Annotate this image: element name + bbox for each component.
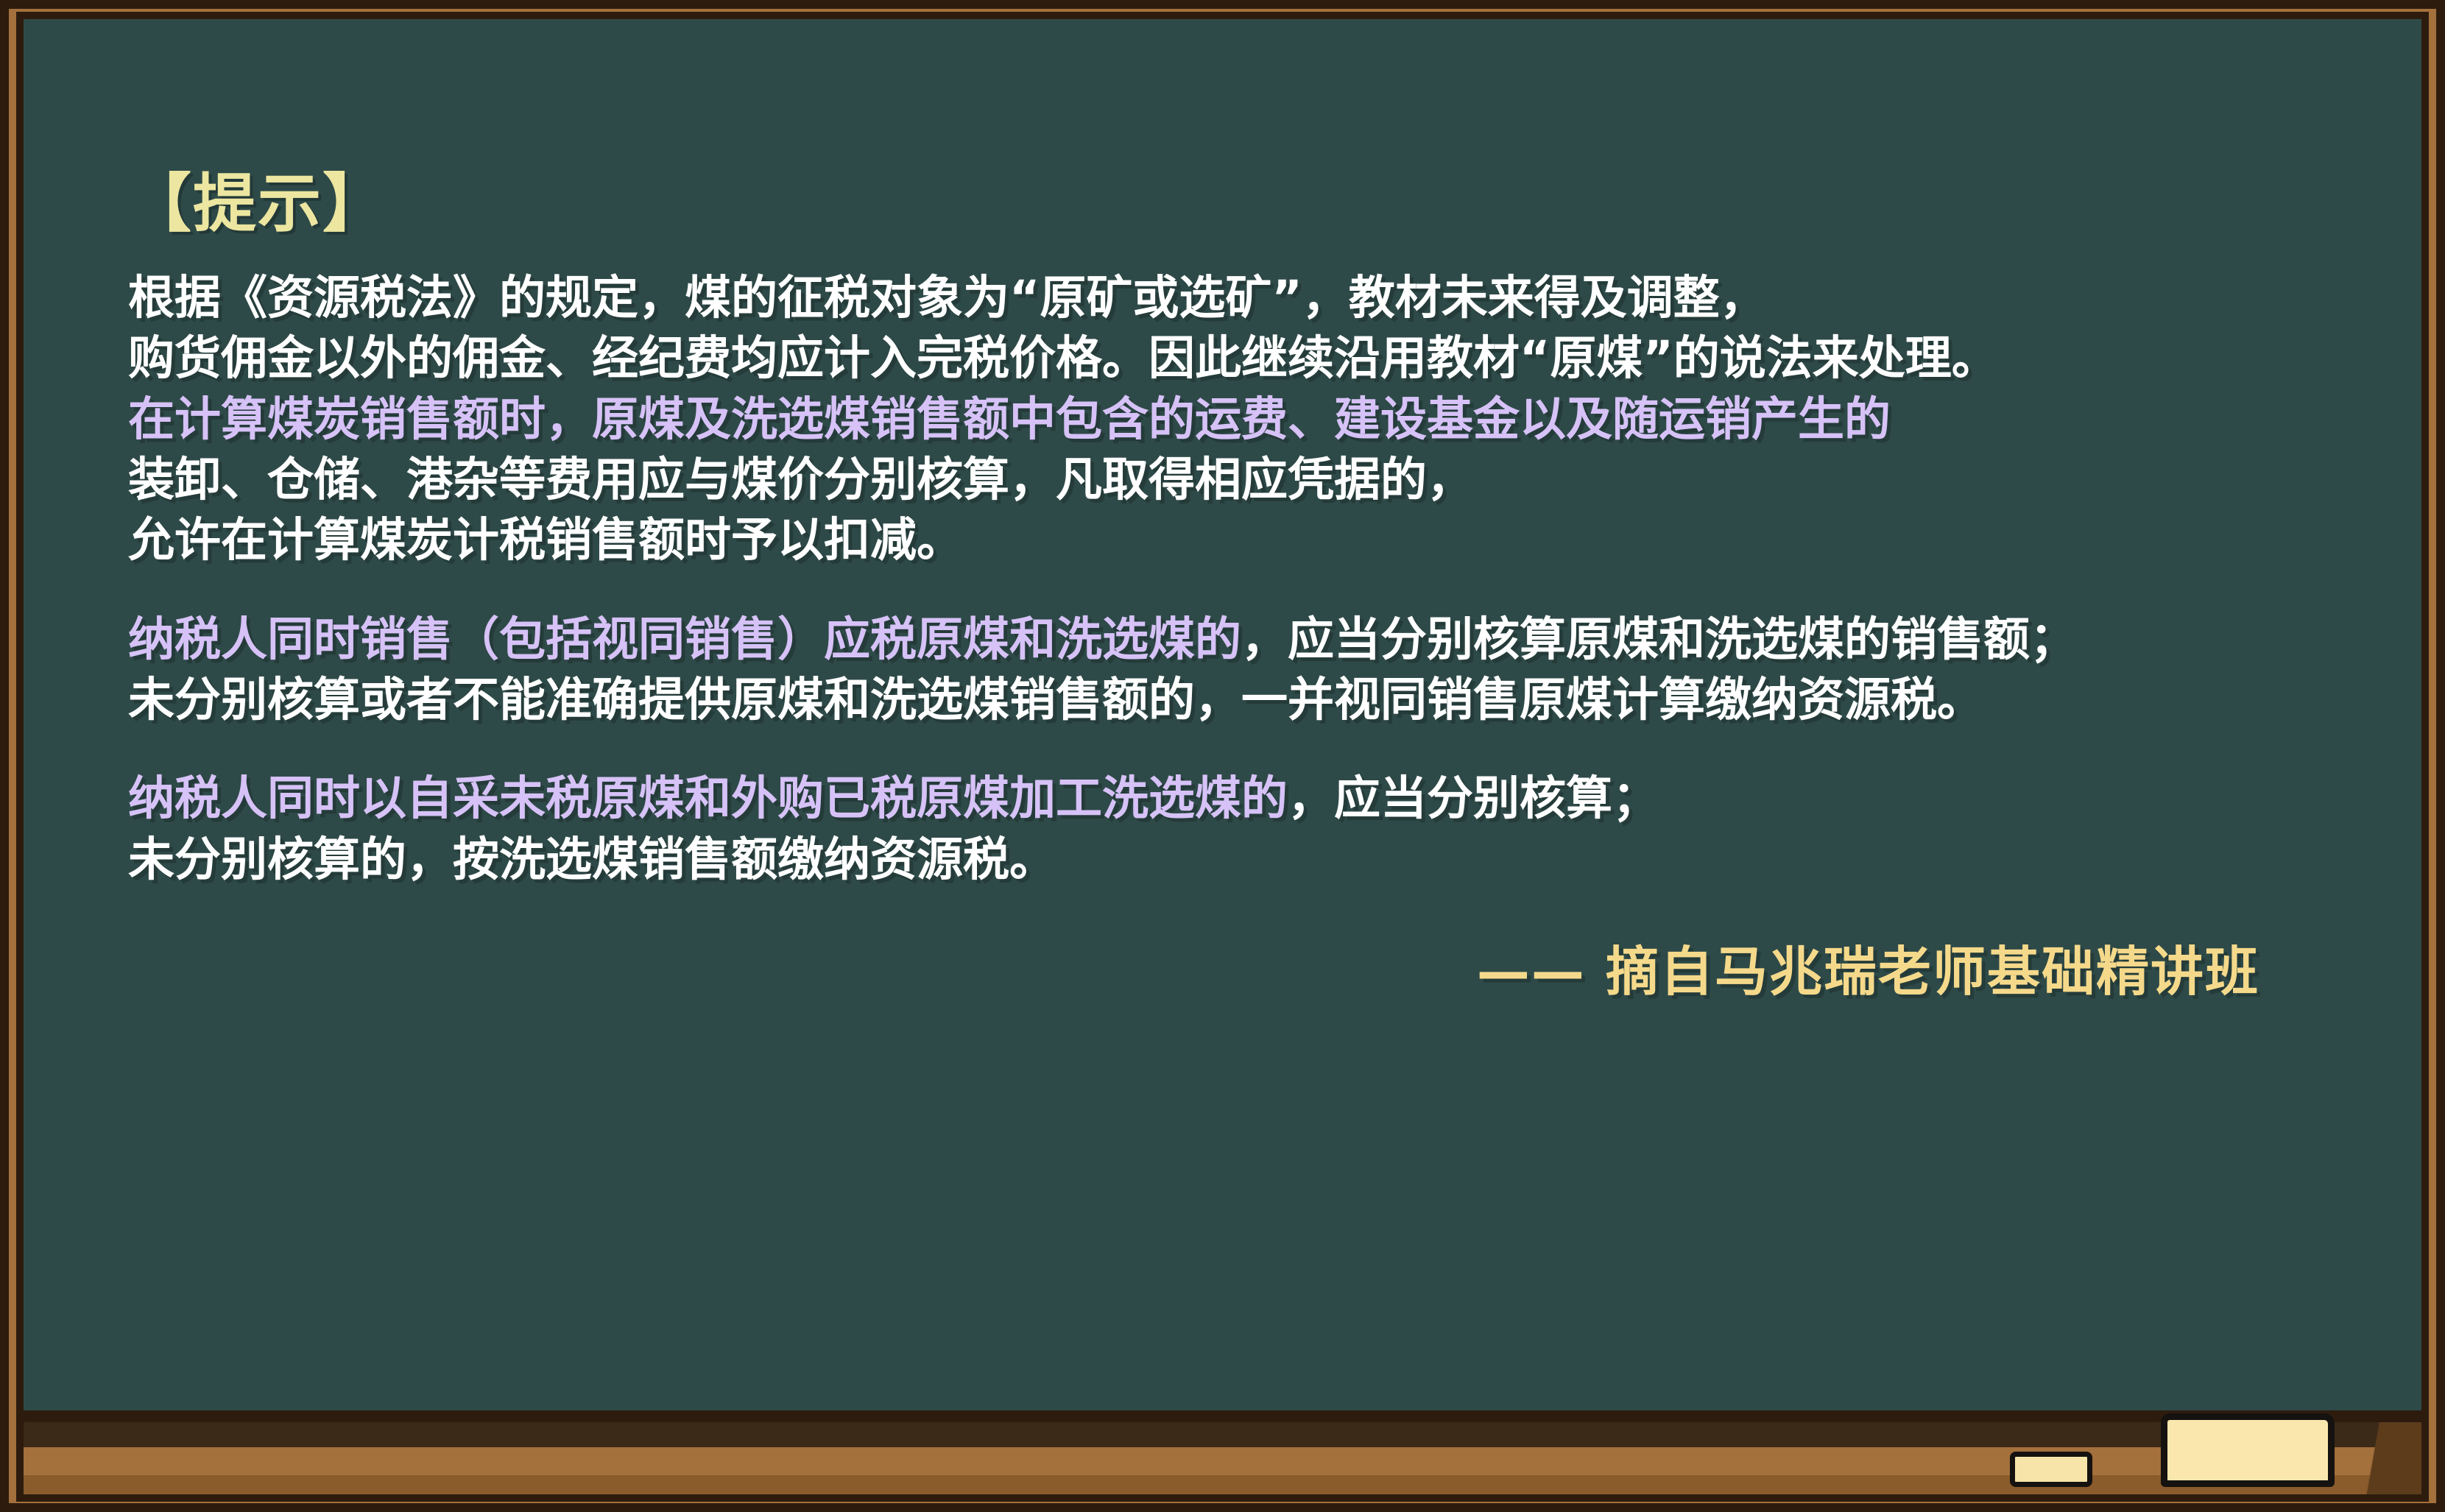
highlighted-text-run: 纳税人同时以自采未税原煤和外购已税原煤加工洗选煤的 bbox=[128, 771, 1288, 825]
paragraph-1: 根据《资源税法》的规定，煤的征税对象为“原矿或选矿”，教材未来得及调整，购货佣金… bbox=[128, 268, 2377, 571]
text-line: 未分别核算或者不能准确提供原煤和洗选煤销售额的，一并视同销售原煤计算缴纳资源税。 bbox=[128, 670, 2377, 730]
highlighted-text-run: 纳税人同时销售（包括视同销售）应税原煤和洗选煤的 bbox=[128, 612, 1241, 666]
text-line: 装卸、仓储、港杂等费用应与煤价分别核算，凡取得相应凭据的， bbox=[128, 450, 2377, 510]
paragraph-spacer bbox=[128, 735, 2377, 769]
paragraph-spacer bbox=[128, 576, 2377, 610]
board-eraser-icon bbox=[2161, 1413, 2335, 1487]
ledge-lip bbox=[24, 1422, 2421, 1447]
board-slate-surface: 【提示】 根据《资源税法》的规定，煤的征税对象为“原矿或选矿”，教材未来得及调整… bbox=[24, 19, 2421, 1410]
text-line: 纳税人同时以自采未税原煤和外购已税原煤加工洗选煤的，应当分别核算； bbox=[128, 769, 2377, 829]
chalk-stick-icon bbox=[2010, 1452, 2092, 1487]
text-run: 装卸、仓储、港杂等费用应与煤价分别核算，凡取得相应凭据的， bbox=[128, 453, 1473, 506]
text-run: 未分别核算或者不能准确提供原煤和洗选煤销售额的，一并视同销售原煤计算缴纳资源税。 bbox=[128, 673, 1983, 727]
text-line: 根据《资源税法》的规定，煤的征税对象为“原矿或选矿”，教材未来得及调整， bbox=[128, 268, 2377, 328]
text-line: 允许在计算煤炭计税销售额时予以扣减。 bbox=[128, 510, 2377, 570]
highlighted-text-run: 在计算煤炭销售额时，原煤及洗选煤销售额中包含的运费、建设基金以及随运销产生的 bbox=[128, 392, 1891, 446]
text-run: ，应当分别核算； bbox=[1288, 771, 1659, 825]
chalkboard-slide: 【提示】 根据《资源税法》的规定，煤的征税对象为“原矿或选矿”，教材未来得及调整… bbox=[0, 0, 2445, 1512]
text-run: ，应当分别核算原煤和洗选煤的销售额； bbox=[1241, 612, 2076, 666]
text-line: 购货佣金以外的佣金、经纪费均应计入完税价格。因此继续沿用教材“原煤”的说法来处理… bbox=[128, 328, 2377, 389]
text-run: 根据《资源税法》的规定，煤的征税对象为“原矿或选矿”，教材未来得及调整， bbox=[128, 271, 1766, 325]
attribution-text: —— 摘自马兆瑞老师基础精讲班 bbox=[128, 928, 2377, 1006]
paragraph-2: 纳税人同时销售（包括视同销售）应税原煤和洗选煤的，应当分别核算原煤和洗选煤的销售… bbox=[128, 610, 2377, 731]
board-content: 【提示】 根据《资源税法》的规定，煤的征税对象为“原矿或选矿”，教材未来得及调整… bbox=[128, 172, 2377, 1006]
text-line: 纳税人同时销售（包括视同销售）应税原煤和洗选煤的，应当分别核算原煤和洗选煤的销售… bbox=[128, 610, 2377, 670]
paragraph-list: 根据《资源税法》的规定，煤的征税对象为“原矿或选矿”，教材未来得及调整，购货佣金… bbox=[128, 268, 2377, 890]
board-inner-frame: 【提示】 根据《资源税法》的规定，煤的征税对象为“原矿或选矿”，教材未来得及调整… bbox=[16, 12, 2429, 1418]
text-run: 购货佣金以外的佣金、经纪费均应计入完税价格。因此继续沿用教材“原煤”的说法来处理… bbox=[128, 331, 1998, 385]
paragraph-3: 纳税人同时以自采未税原煤和外购已税原煤加工洗选煤的，应当分别核算；未分别核算的，… bbox=[128, 769, 2377, 890]
page-title: 【提示】 bbox=[128, 172, 2377, 236]
text-line: 未分别核算的，按洗选煤销售额缴纳资源税。 bbox=[128, 830, 2377, 890]
text-line: 在计算煤炭销售额时，原煤及洗选煤销售额中包含的运费、建设基金以及随运销产生的 bbox=[128, 389, 2377, 450]
text-run: 允许在计算煤炭计税销售额时予以扣减。 bbox=[128, 513, 963, 567]
text-run: 未分别核算的，按洗选煤销售额缴纳资源税。 bbox=[128, 833, 1056, 886]
